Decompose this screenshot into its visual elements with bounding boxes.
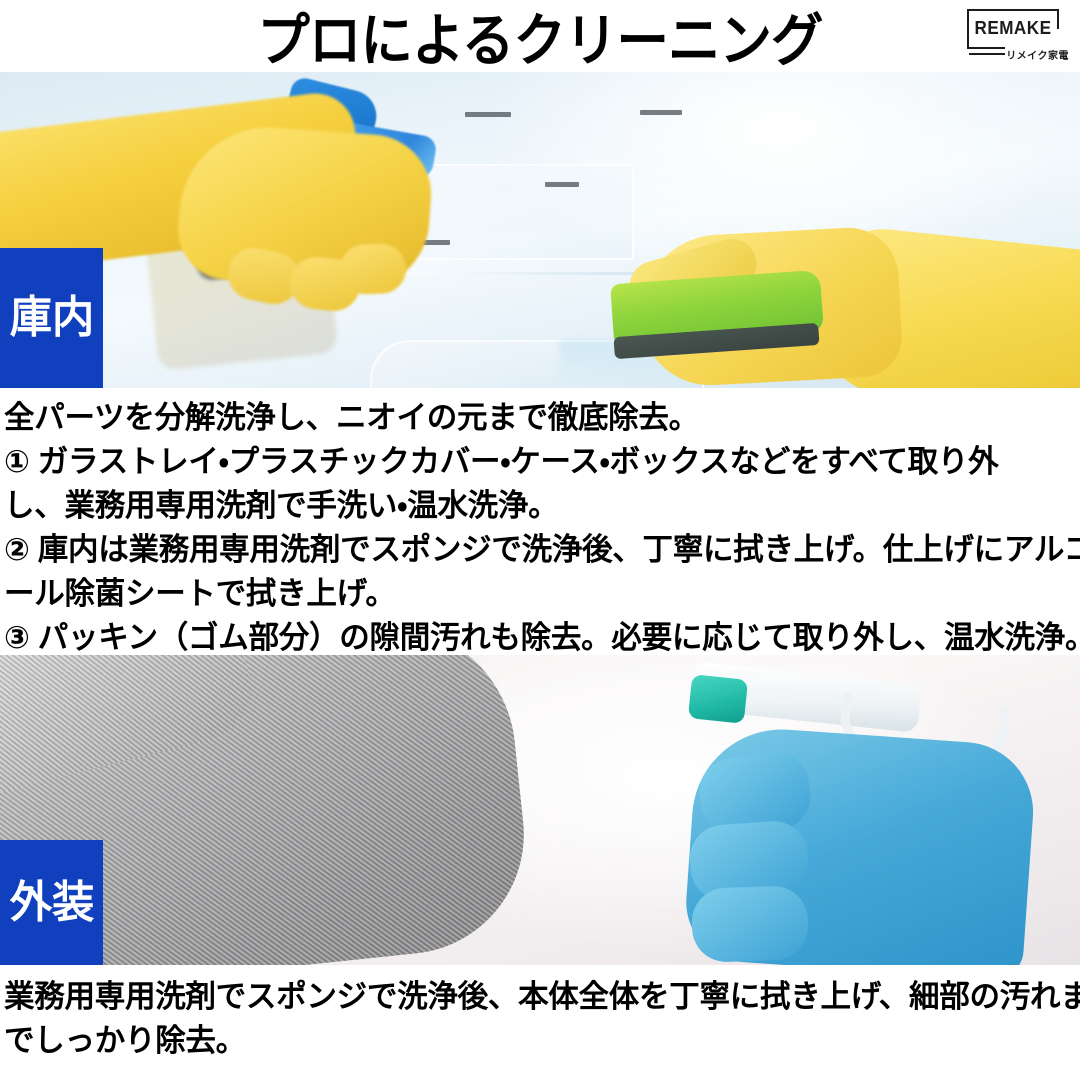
section-badge-interior: 庫内 — [0, 248, 103, 388]
description-line: し、業務用専用洗剤で手洗い・温水洗浄。 — [4, 484, 1058, 528]
description-line: ② 庫内は業務用専用洗剤でスポンジで洗浄後、丁寧に拭き上げ。仕上げにアルコ — [4, 528, 1058, 572]
remake-logo: REMAKE リメイク家電 — [965, 7, 1069, 63]
photo-refrigerator-interior — [0, 72, 1080, 388]
fridge-shelf-clip-d — [545, 182, 579, 187]
section-badge-exterior-label: 外装 — [9, 881, 93, 925]
description-line: 業務用専用洗剤でスポンジで洗浄後、本体全体を丁寧に拭き上げ、細部の汚れま — [4, 965, 1058, 1019]
blue-glove-knuckle-3 — [691, 885, 810, 963]
spray-bottle-cap — [688, 674, 748, 724]
logo-wordmark: REMAKE — [967, 18, 1058, 39]
fridge-glass-shelf — [400, 164, 634, 260]
product-listing-image: プロによるクリーニング REMAKE リメイク家電 — [0, 0, 1080, 1080]
description-line: ③ パッキン（ゴム部分）の隙間汚れも除去。必要に応じて取り外し、温水洗浄。 — [4, 616, 1058, 660]
fridge-shelf-clip-a — [465, 112, 511, 117]
description-interior: 全パーツを分解洗浄し、ニオイの元まで徹底除去。 ① ガラストレイ・プラスチックカ… — [0, 388, 1080, 655]
description-exterior: 業務用専用洗剤でスポンジで洗浄後、本体全体を丁寧に拭き上げ、細部の汚れま でしっ… — [0, 965, 1080, 1080]
description-line: ① ガラストレイ・プラスチックカバー・ケース・ボックスなどをすべて取り外 — [4, 440, 1058, 484]
logo-subtext: リメイク家電 — [965, 47, 1069, 62]
yellow-glove-finger-3 — [339, 243, 407, 295]
page-title: プロによるクリーニング — [43, 0, 1037, 72]
section-badge-exterior: 外装 — [0, 840, 103, 965]
header: プロによるクリーニング REMAKE リメイク家電 — [0, 0, 1080, 72]
fridge-shelf-clip-b — [640, 110, 682, 115]
section-badge-interior-label: 庫内 — [9, 296, 93, 340]
description-line: でしっかり除去。 — [4, 1019, 1058, 1063]
description-line: 全パーツを分解洗浄し、ニオイの元まで徹底除去。 — [4, 388, 1058, 440]
description-line: ール除菌シートで拭き上げ。 — [4, 572, 1058, 616]
photo-appliance-exterior — [0, 655, 1080, 965]
